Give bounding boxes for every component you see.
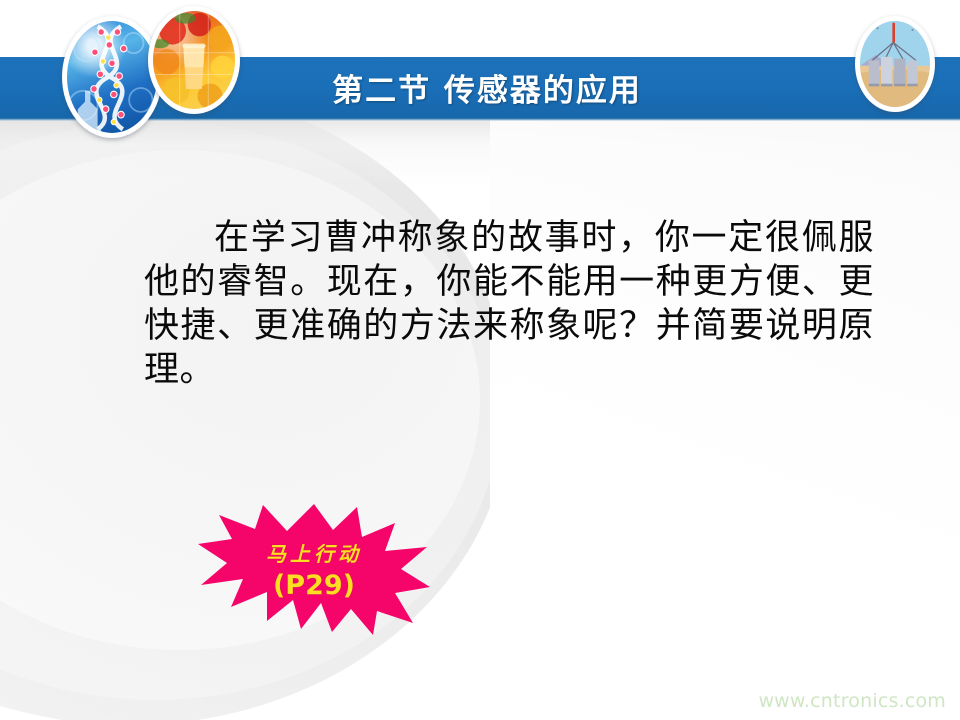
background-right-wash (490, 118, 960, 720)
fruit-juice-photo-bubble (148, 6, 240, 114)
starburst-shape-icon (197, 503, 431, 635)
fruit-juice-photo-inner (153, 11, 235, 109)
silo-crane-icon (860, 21, 930, 107)
body-paragraph: 在学习曹冲称象的故事时，你一定很佩服他的睿智。现在，你能不能用一种更方便、更快捷… (144, 216, 874, 392)
dna-lab-photo-bubble (62, 16, 162, 138)
grain-silo-photo-inner (860, 21, 930, 107)
dna-helix-icon (67, 21, 157, 133)
background-top-wash (0, 118, 960, 720)
presentation-slide: 第二节 传感器的应用 (0, 0, 960, 720)
starburst-callout[interactable]: 马上行动 (P29) (197, 503, 431, 635)
fruit-basket-icon (153, 11, 235, 109)
grain-silo-photo-bubble (855, 16, 935, 112)
site-watermark: www.cntronics.com (758, 690, 946, 712)
dna-lab-photo-inner (67, 21, 157, 133)
